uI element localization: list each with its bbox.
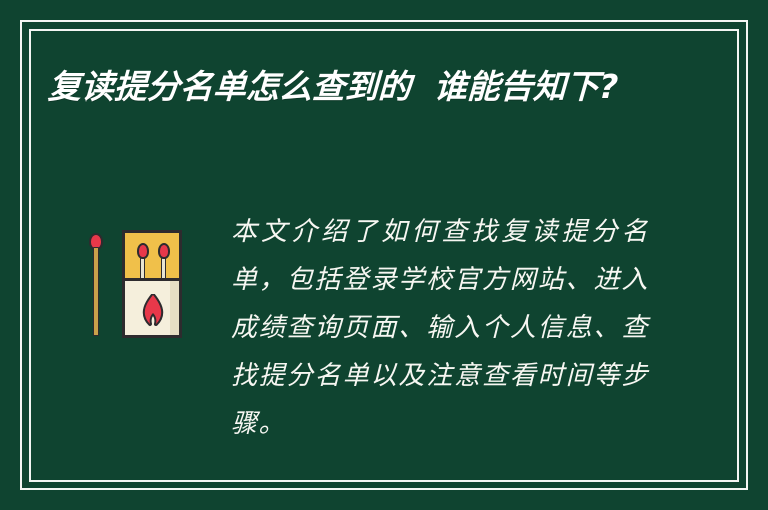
single-match-icon [89, 233, 102, 336]
poster-canvas: 复读提分名单怎么查到的 谁能告知下? [0, 0, 768, 510]
matchbox-drawer [122, 278, 182, 338]
match-head-icon [137, 243, 149, 259]
match-head-icon [158, 243, 170, 259]
drawer-shading [170, 281, 179, 335]
matchbox-illustration [78, 225, 190, 343]
match-stick-icon [93, 247, 99, 336]
flame-icon [139, 294, 167, 328]
body-paragraph: 本文介绍了如何查找复读提分名单，包括登录学校官方网站、进入成绩查询页面、输入个人… [231, 208, 649, 448]
page-title: 复读提分名单怎么查到的 谁能告知下? [47, 62, 689, 111]
matchbox-icon [122, 230, 182, 338]
matchbox-tray [122, 230, 182, 284]
